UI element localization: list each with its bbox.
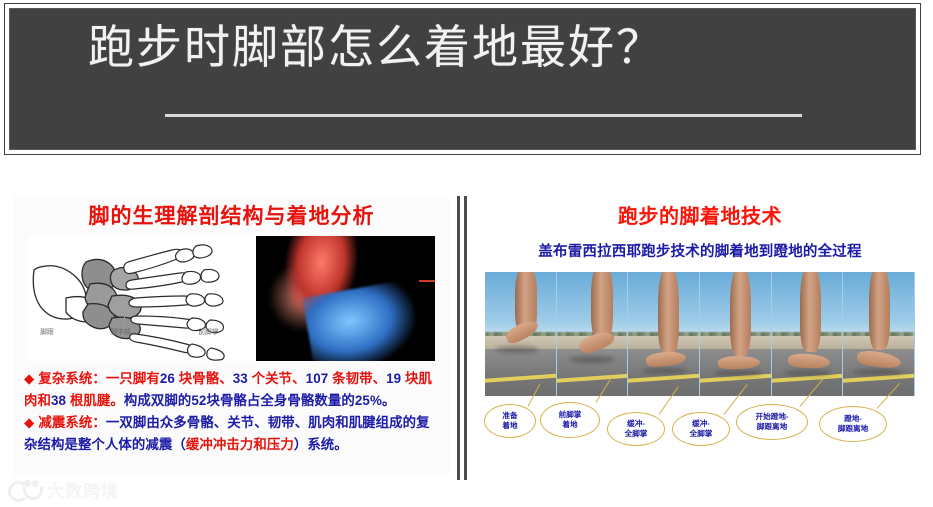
callout-3: 缓冲- 全脚掌 — [607, 412, 665, 446]
bullet-text-segment: 块骨骼、 — [175, 371, 233, 386]
anatomy-caption-row: 脚跟 脚中部 前脚掌 — [28, 327, 256, 345]
bullet-text-segment: 构成双脚的 — [124, 393, 191, 408]
watermark-logo-icon — [8, 479, 42, 499]
callout-6: 蹬地- 脚跟离地 — [819, 406, 887, 442]
panel-divider — [457, 196, 469, 480]
watermark: 大数跨境 — [8, 474, 173, 504]
runner-leg — [658, 272, 679, 354]
sequence-frame-4 — [700, 272, 772, 396]
right-panel: 跑步的脚着地技术 盖布雷西拉西耶跑步技术的脚着地到蹬地的全过程 准备 着地前脚掌… — [474, 196, 926, 476]
right-panel-subtitle: 盖布雷西拉西耶跑步技术的脚着地到蹬地的全过程 — [474, 240, 926, 261]
bullet-text-segment: 52 — [191, 393, 206, 408]
label-forefoot: 前脚掌 — [198, 327, 218, 337]
bullet-text-segment: 一双脚由众多骨骼、关节、韧带、肌肉和肌腱组成的复 — [106, 415, 430, 430]
bullet-text-segment: 条韧带、 — [328, 371, 386, 386]
midfoot-leader-line — [124, 314, 125, 328]
bullet-text-segment: 26 — [160, 371, 175, 386]
callout-group: 准备 着地前脚掌 着地缓冲- 全脚掌缓冲- 全脚掌开始蹬地- 脚跟离地蹬地- 脚… — [474, 392, 926, 476]
bullet-1-line-2: 肉和38 根肌腱。构成双脚的52块骨骼占全身骨骼数量的25%。 — [24, 390, 444, 412]
ankle-thermal-photo — [256, 236, 435, 361]
page-title: 跑步时脚部怎么着地最好？ — [88, 19, 664, 77]
bullet-text-segment: 。 — [382, 393, 396, 408]
bullet-text-segment: 一只脚有 — [106, 371, 160, 386]
foot-shadow — [714, 370, 762, 376]
bullet-2-line-2: 杂结构是整个人体的减震（缓冲冲击力和压力）系统。 — [24, 434, 444, 456]
bullet-text-segment: 个关节、 — [248, 371, 306, 386]
header-inner: 跑步时脚部怎么着地最好？ — [9, 8, 916, 150]
runner-leg — [730, 272, 751, 356]
right-panel-title: 跑步的脚着地技术 — [474, 200, 926, 229]
foot-shadow — [642, 368, 688, 374]
runner-leg — [800, 272, 821, 352]
bullet-diamond-icon: ◆ — [24, 371, 34, 386]
bullet-text-segment: 107 — [306, 371, 329, 386]
left-panel: 脚的生理解剖结构与着地分析 — [14, 196, 449, 476]
runner-leg — [591, 272, 613, 340]
bullet-text-segment: 25% — [355, 393, 382, 408]
foot-shadow — [495, 346, 539, 353]
watermark-text: 大数跨境 — [47, 477, 119, 502]
bullet-text-segment: 块骨骼占全身骨骼数量的 — [206, 393, 354, 408]
bullet-text-segment: 根肌腱。 — [66, 393, 124, 408]
runner-leg — [869, 272, 890, 350]
left-panel-title: 脚的生理解剖结构与着地分析 — [14, 200, 449, 230]
foot-shadow — [853, 369, 903, 375]
bullet-text-segment: 肉和 — [24, 393, 51, 408]
foot-shadow — [569, 356, 615, 363]
left-panel-bullets: ◆复杂系统：一只脚有26 块骨骼、33 个关节、107 条韧带、19 块肌肉和3… — [24, 368, 444, 456]
slide-root: 跑步时脚部怎么着地最好？ 脚的生理解剖结构与着地分析 — [0, 0, 933, 507]
title-underline — [165, 114, 802, 117]
sequence-frame-5 — [772, 272, 844, 396]
bullet-label: 减震系统： — [38, 415, 105, 430]
bullet-text-segment: 33 — [233, 371, 248, 386]
bullet-label: 复杂系统： — [38, 371, 105, 386]
foot-shadow — [784, 370, 832, 376]
bullet-2-line-1: ◆减震系统：一双脚由众多骨骼、关节、韧带、肌肉和肌腱组成的复 — [24, 412, 444, 434]
label-midfoot: 脚中部 — [110, 327, 130, 337]
callout-4: 缓冲- 全脚掌 — [672, 412, 730, 446]
photo-pointer-line — [419, 280, 435, 282]
bullet-text-segment: 38 — [51, 393, 66, 408]
callout-5: 开始蹬地- 脚跟离地 — [736, 404, 808, 440]
sequence-frame-2 — [557, 272, 629, 396]
header-banner: 跑步时脚部怎么着地最好？ — [4, 3, 921, 155]
divider-line-2 — [464, 196, 467, 480]
callout-2: 前脚掌 着地 — [540, 402, 600, 438]
sequence-frame-6 — [843, 272, 915, 396]
bullet-text-segment: 19 — [386, 371, 401, 386]
frame-road — [485, 349, 556, 396]
bullet-diamond-icon: ◆ — [24, 415, 34, 430]
bullet-text-segment: 块肌 — [401, 371, 432, 386]
sequence-frame-3 — [628, 272, 700, 396]
bullet-text-segment: ）系统。 — [294, 437, 348, 452]
running-sequence-photo — [485, 272, 915, 396]
callout-1: 准备 着地 — [484, 404, 536, 438]
bullet-1-line-1: ◆复杂系统：一只脚有26 块骨骼、33 个关节、107 条韧带、19 块肌 — [24, 368, 444, 390]
bullet-text-segment: 缓冲冲击力和压力 — [186, 437, 294, 452]
label-heel: 脚跟 — [40, 327, 53, 337]
divider-line-1 — [457, 196, 460, 480]
sequence-frame-1 — [485, 272, 557, 396]
bullet-text-segment: 杂结构是整个人体的减震（ — [24, 437, 186, 452]
